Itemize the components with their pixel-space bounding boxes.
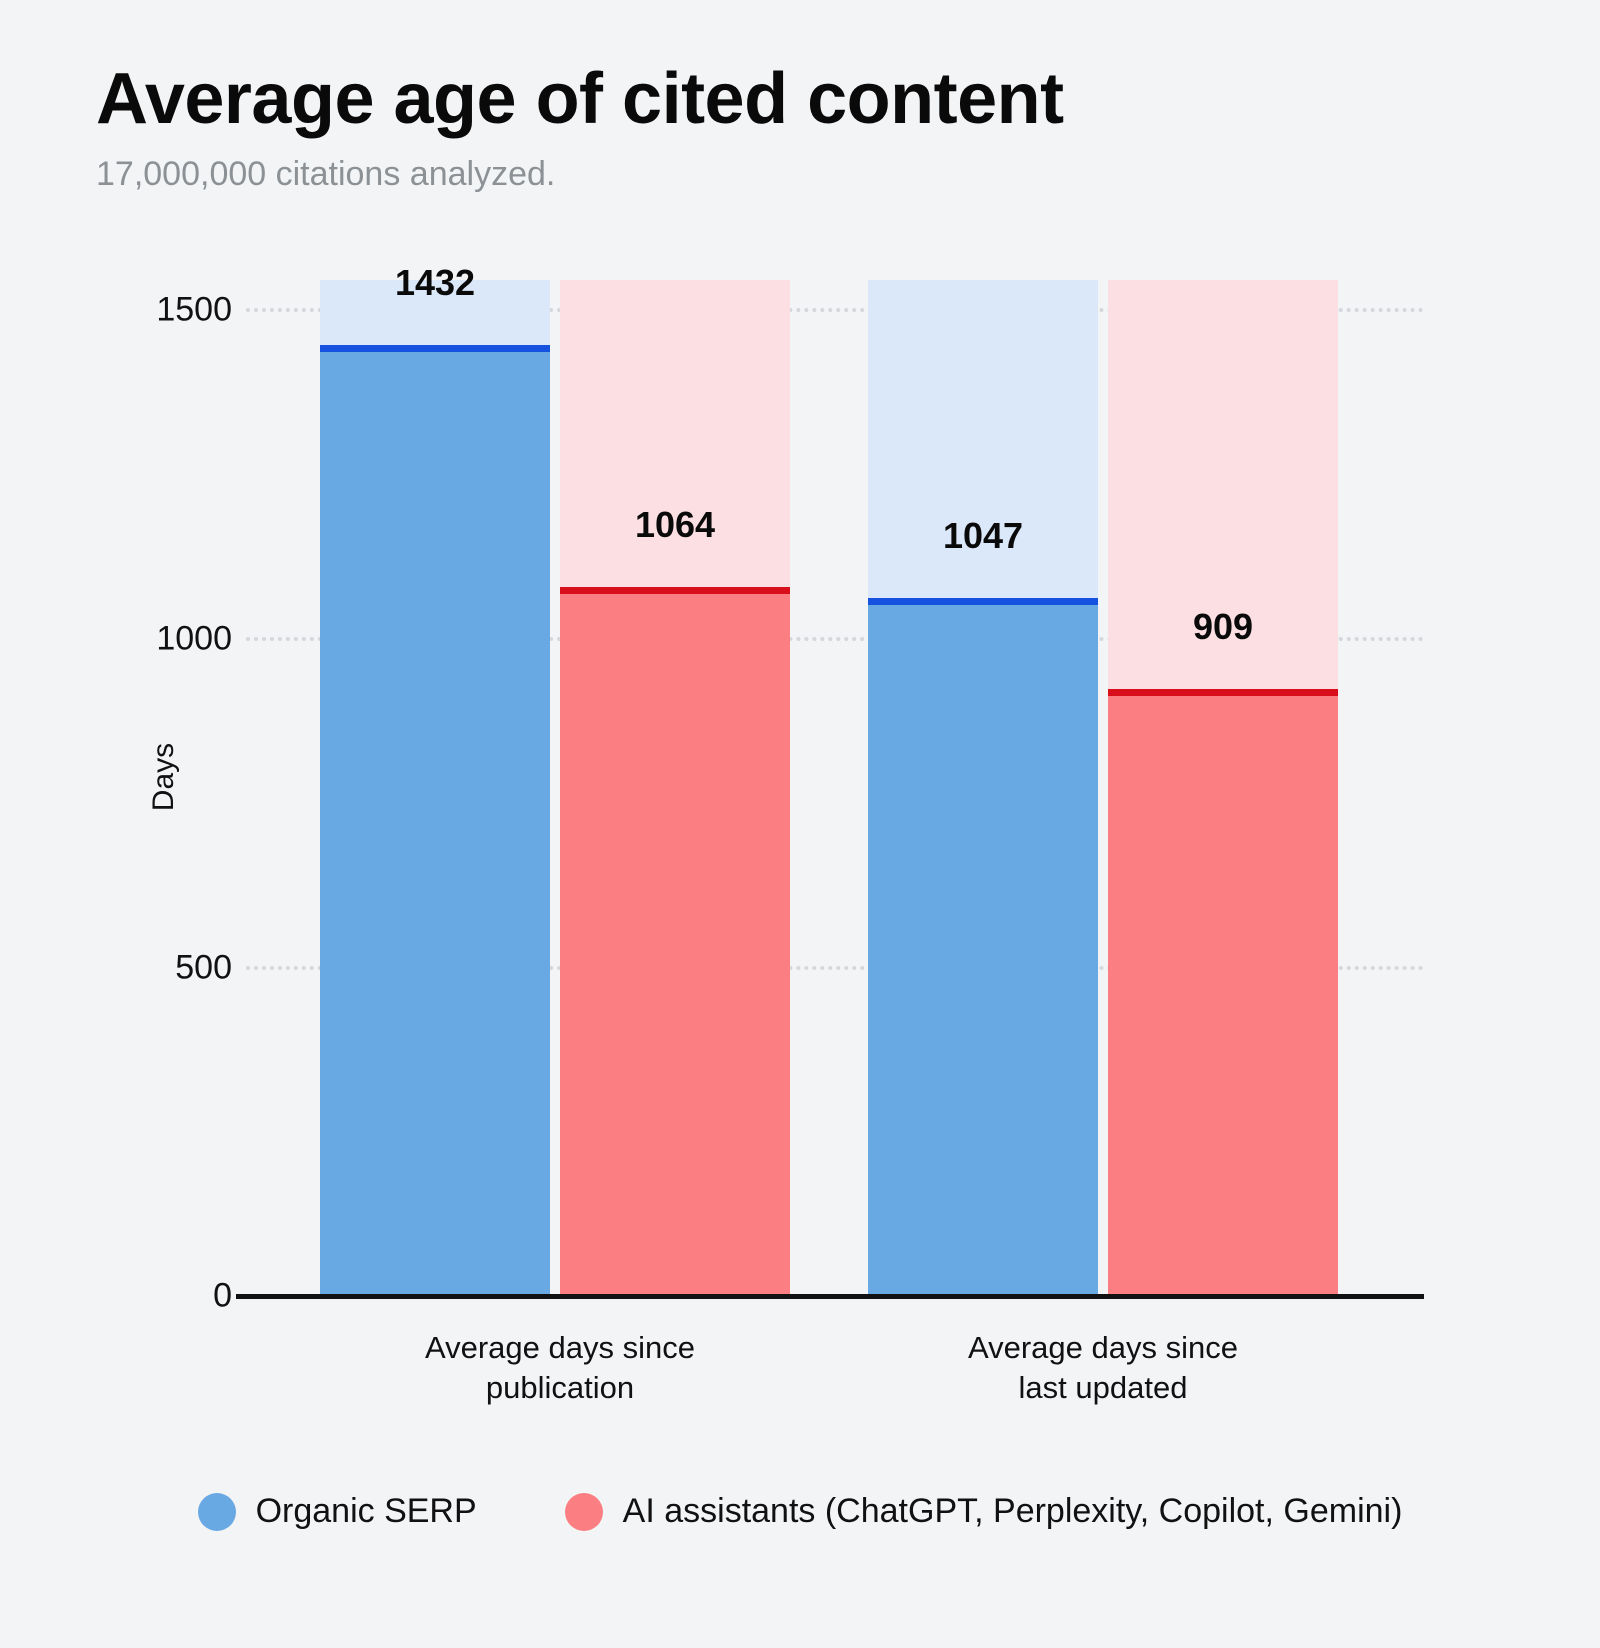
y-axis-title: Days (147, 697, 181, 857)
legend-swatch-ai-assistants-icon (565, 1493, 603, 1531)
bar-fill (320, 352, 550, 1294)
legend-swatch-organic-serp-icon (198, 1493, 236, 1531)
chart-legend: Organic SERP AI assistants (ChatGPT, Per… (0, 1492, 1600, 1531)
legend-item-ai-assistants[interactable]: AI assistants (ChatGPT, Perplexity, Copi… (565, 1492, 1403, 1531)
plot-area: Days 1500 1000 500 0 1432 1064 (0, 0, 1600, 1648)
category-label-line-2: last updated (913, 1368, 1293, 1408)
bar-value-label: 1064 (560, 504, 790, 546)
category-label-line-1: Average days since (370, 1328, 750, 1368)
bar-cap-line (320, 345, 550, 352)
bar-organic-serp-last-updated[interactable]: 1047 (868, 280, 1098, 1294)
y-tick-label-1500: 1500 (72, 291, 232, 330)
y-tick-label-1000: 1000 (72, 620, 232, 659)
y-tick-label-0: 0 (72, 1277, 232, 1316)
legend-label-ai-assistants: AI assistants (ChatGPT, Perplexity, Copi… (623, 1492, 1403, 1531)
x-axis-baseline (236, 1294, 1424, 1299)
category-label-line-1: Average days since (913, 1328, 1293, 1368)
bar-cap-line (1108, 689, 1338, 696)
category-label-line-2: publication (370, 1368, 750, 1408)
bar-cap-line (868, 598, 1098, 605)
legend-item-organic-serp[interactable]: Organic SERP (198, 1492, 477, 1531)
y-tick-label-500: 500 (72, 949, 232, 988)
bar-value-label: 1047 (868, 515, 1098, 557)
category-label-last-updated: Average days since last updated (913, 1328, 1293, 1407)
chart-card: Average age of cited content 17,000,000 … (0, 0, 1600, 1648)
bar-cap-line (560, 587, 790, 594)
bar-value-label: 1432 (320, 262, 550, 304)
category-label-publication: Average days since publication (370, 1328, 750, 1407)
bar-fill (1108, 696, 1338, 1294)
bar-value-label: 909 (1108, 606, 1338, 648)
bar-fill (560, 594, 790, 1294)
bar-organic-serp-publication[interactable]: 1432 (320, 280, 550, 1294)
bar-ai-assistants-publication[interactable]: 1064 (560, 280, 790, 1294)
bar-ai-assistants-last-updated[interactable]: 909 (1108, 280, 1338, 1294)
bar-fill (868, 605, 1098, 1294)
legend-label-organic-serp: Organic SERP (256, 1492, 477, 1531)
